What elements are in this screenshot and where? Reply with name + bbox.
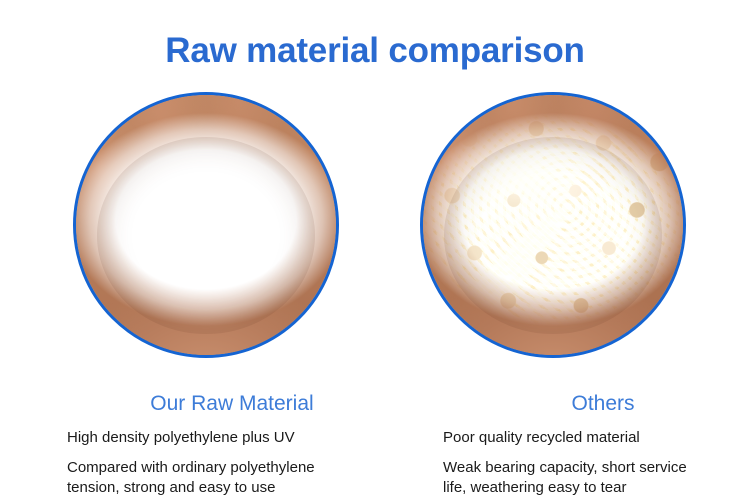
caption-block-others: Others Poor quality recycled material We… [443, 379, 750, 497]
caption-line: life, weathering easy to tear [443, 478, 750, 497]
caption-line: Compared with ordinary polyethylene [67, 458, 397, 477]
caption-lines-right-1: Poor quality recycled material [443, 428, 750, 447]
comparison-column-our-raw-material: Our Raw Material High density polyethyle… [73, 92, 339, 358]
caption-line: Weak bearing capacity, short service [443, 458, 750, 477]
caption-line: Poor quality recycled material [443, 428, 750, 447]
caption-line: tension, strong and easy to use [67, 478, 397, 497]
comparison-column-others: Others Poor quality recycled material We… [420, 92, 686, 358]
caption-block-our-raw-material: Our Raw Material High density polyethyle… [67, 379, 397, 497]
product-photo-our-raw-material [73, 92, 339, 358]
page-title: Raw material comparison [0, 30, 750, 72]
white-pellets-texture [76, 100, 336, 339]
photo-inner-right [423, 95, 683, 355]
beige-pellets-texture [423, 100, 683, 339]
caption-lines-left-2: Compared with ordinary polyethylene tens… [67, 458, 397, 497]
caption-lines-left-1: High density polyethylene plus UV [67, 428, 397, 447]
pellet-heap-left [76, 100, 336, 339]
caption-lines-right-2: Weak bearing capacity, short service lif… [443, 458, 750, 497]
caption-heading-others: Others [443, 391, 750, 417]
photo-inner-left [76, 95, 336, 355]
caption-heading-our-raw-material: Our Raw Material [67, 391, 397, 417]
product-photo-others [420, 92, 686, 358]
caption-line: High density polyethylene plus UV [67, 428, 397, 447]
pellet-heap-right [423, 100, 683, 339]
